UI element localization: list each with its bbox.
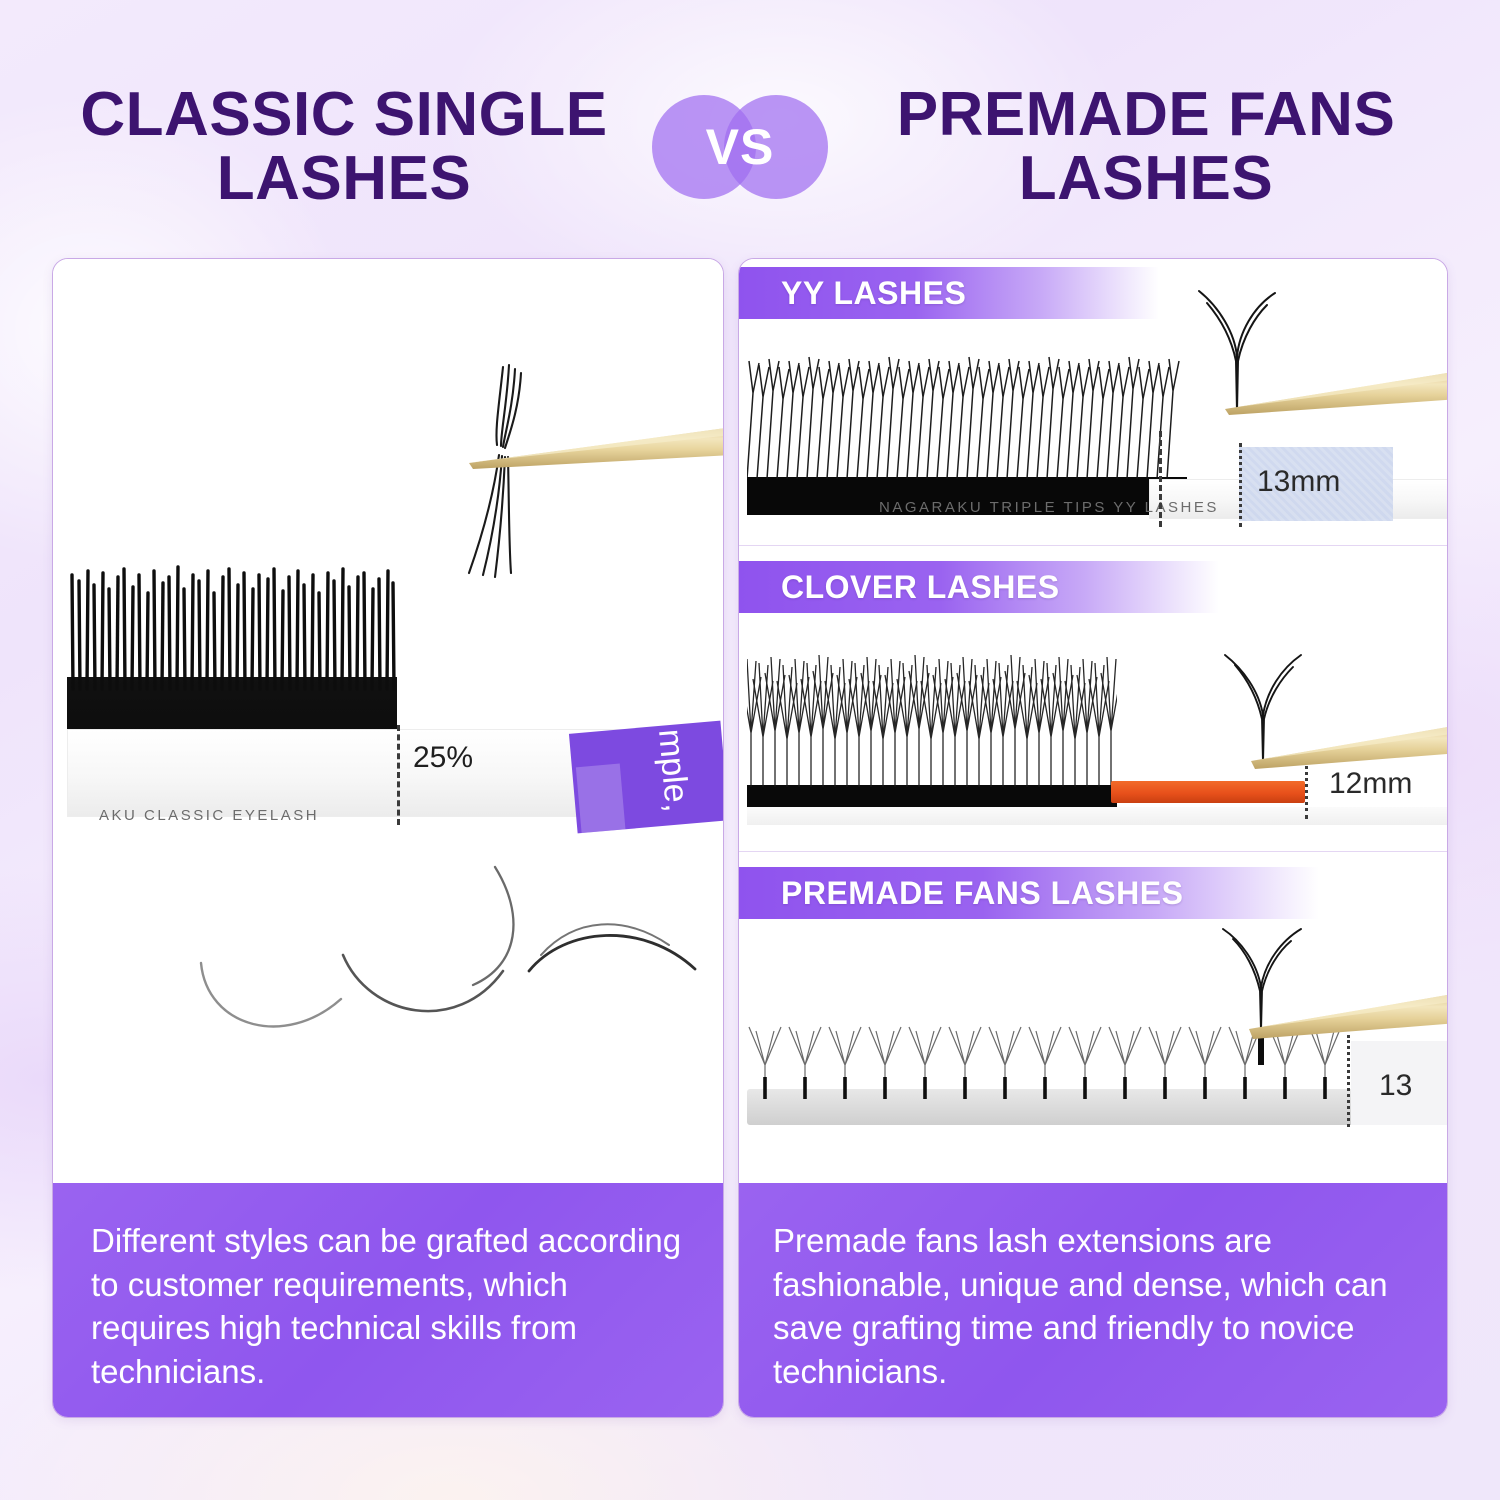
header: CLASSIC SINGLE LASHES VS PREMADE FANS LA… xyxy=(0,72,1500,222)
section-label-clover-text: CLOVER LASHES xyxy=(781,569,1060,606)
premade-fan-with-tweezers-icon xyxy=(1199,927,1447,1097)
yy-lash-band xyxy=(747,347,1187,515)
row-divider-2 xyxy=(739,851,1447,852)
yy-fan-with-tweezers-icon xyxy=(1179,287,1447,467)
infographic-root: CLASSIC SINGLE LASHES VS PREMADE FANS LA… xyxy=(0,0,1500,1500)
section-label-yy-lashes: YY LASHES xyxy=(739,267,1159,319)
left-panel-stage: 25% AKU CLASSIC EYELASH mple, xyxy=(53,259,723,1185)
yy-measure-dash xyxy=(1159,431,1162,527)
tag-highlight xyxy=(576,764,626,834)
yy-measure-label: 13mm xyxy=(1257,465,1340,499)
loose-curved-lashes xyxy=(173,859,713,1059)
section-label-yy-text: YY LASHES xyxy=(781,275,966,312)
right-panel: YY LASHES xyxy=(738,258,1448,1418)
left-panel-title: CLASSIC SINGLE LASHES xyxy=(52,83,652,211)
clover-lash-band xyxy=(747,637,1117,817)
section-label-clover-lashes: CLOVER LASHES xyxy=(739,561,1219,613)
clover-fan-with-tweezers-icon xyxy=(1209,651,1447,811)
percent-label: 25% xyxy=(413,741,473,775)
right-caption: Premade fans lash extensions are fashion… xyxy=(739,1183,1447,1417)
section-label-premade-text: PREMADE FANS LASHES xyxy=(781,875,1183,912)
measure-dash-left xyxy=(397,725,400,825)
right-panel-stage: YY LASHES xyxy=(739,259,1447,1185)
vs-label: VS xyxy=(652,87,828,207)
right-panel-title: PREMADE FANS LASHES xyxy=(828,83,1448,211)
purple-sample-tag: mple, xyxy=(569,721,723,834)
row-divider-1 xyxy=(739,545,1447,546)
left-panel: 25% AKU CLASSIC EYELASH mple, Different … xyxy=(52,258,724,1418)
tweezers-with-single-lashes-icon xyxy=(433,359,723,609)
left-brand-text: AKU CLASSIC EYELASH xyxy=(99,807,319,824)
left-caption: Different styles can be grafted accordin… xyxy=(53,1183,723,1417)
vs-badge: VS xyxy=(652,87,828,207)
yy-brand-text: NAGARAKU TRIPLE TIPS YY LASHES xyxy=(879,499,1219,516)
section-label-premade-fans: PREMADE FANS LASHES xyxy=(739,867,1319,919)
tag-text: mple, xyxy=(650,727,696,813)
